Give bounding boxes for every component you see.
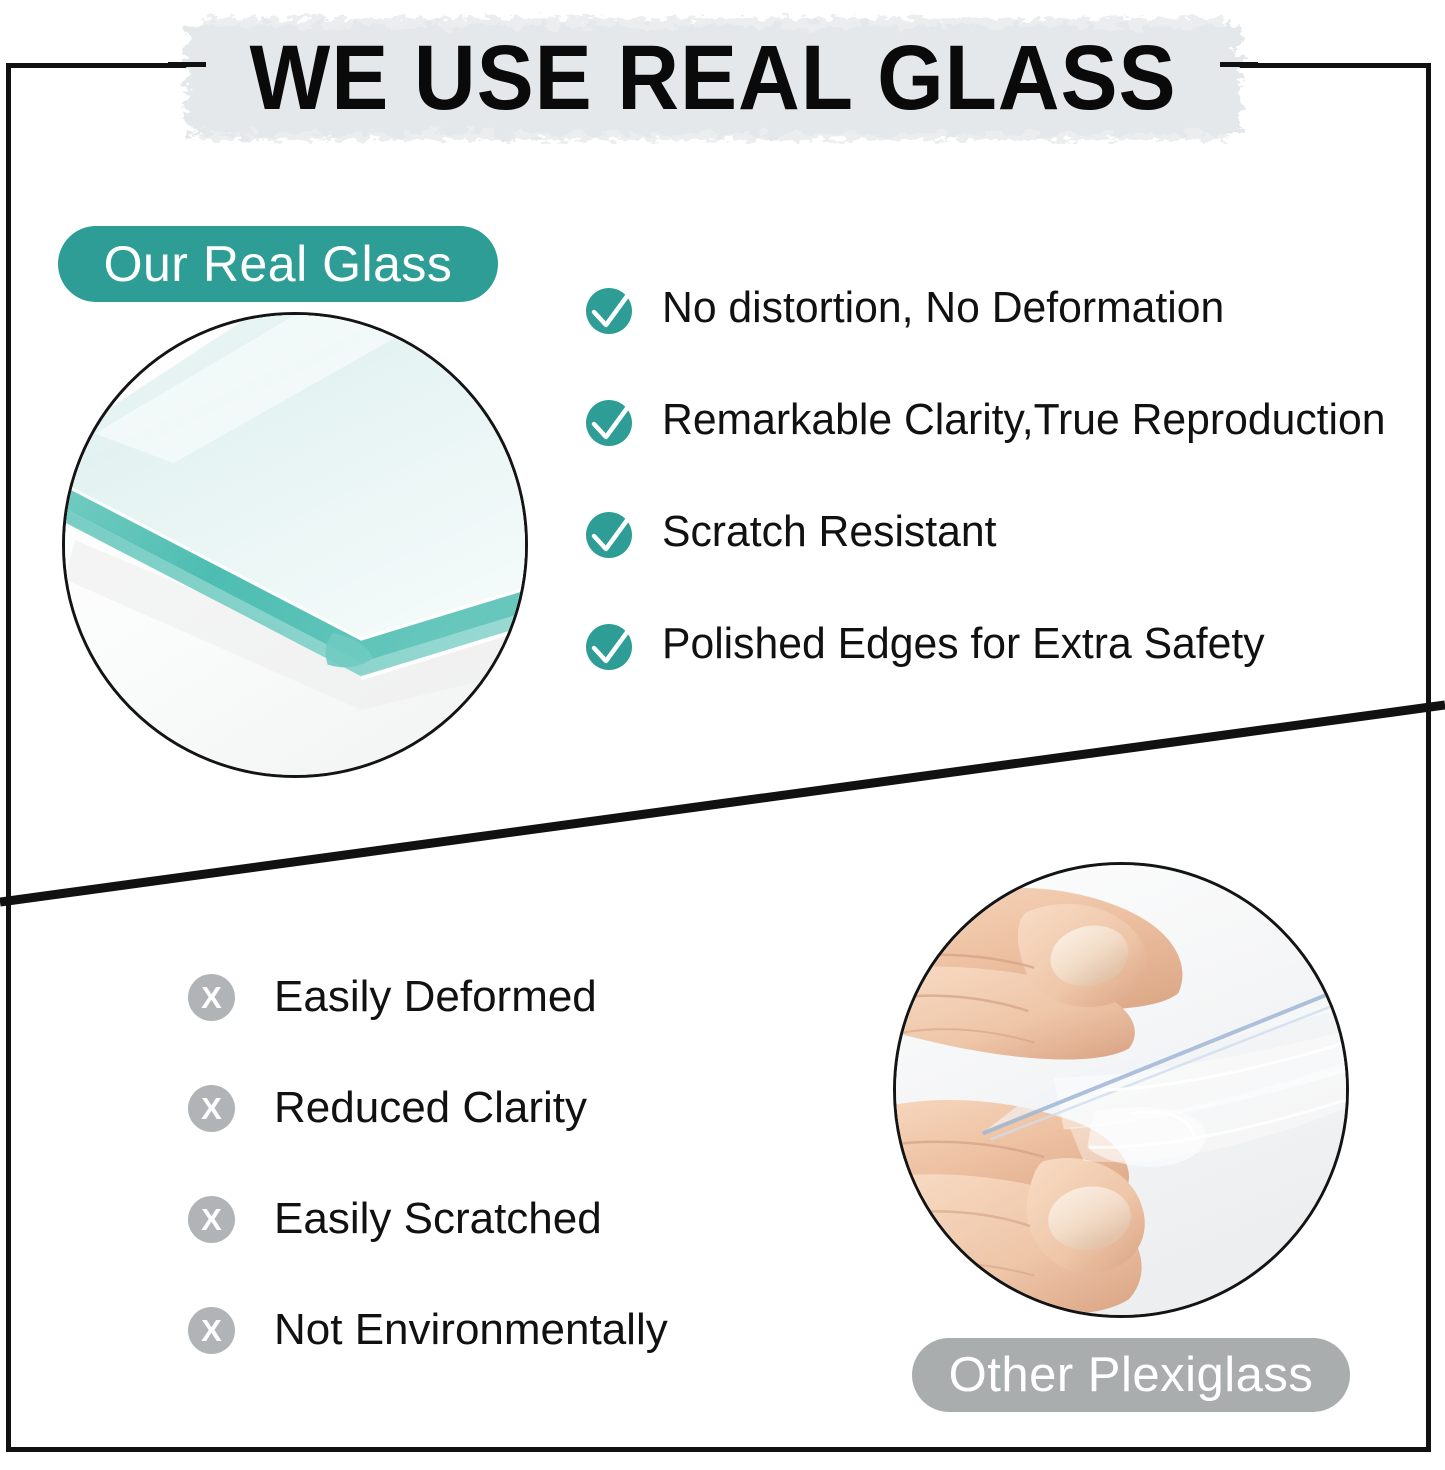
feature-row: Remarkable Clarity,True Reproduction (584, 394, 1434, 506)
check-circle-icon (584, 284, 636, 336)
x-circle-icon: X (188, 1085, 235, 1132)
x-circle-icon: X (188, 1196, 235, 1243)
drawback-row: X Reduced Clarity (188, 1083, 808, 1194)
feature-row: Polished Edges for Extra Safety (584, 618, 1434, 730)
badge-our-real-glass: Our Real Glass (58, 226, 498, 302)
feature-label: Scratch Resistant (662, 498, 996, 566)
page-title: WE USE REAL GLASS (206, 26, 1220, 130)
feature-label: Remarkable Clarity,True Reproduction (662, 386, 1385, 454)
x-circle-icon: X (188, 974, 235, 1021)
feature-row: Scratch Resistant (584, 506, 1434, 618)
check-circle-icon (584, 396, 636, 448)
drawback-row: X Easily Scratched (188, 1194, 808, 1305)
real-glass-photo (62, 312, 528, 778)
drawback-row: X Not Environmentally (188, 1305, 808, 1416)
plexiglass-photo (893, 862, 1349, 1318)
check-circle-icon (584, 508, 636, 560)
infographic-root: WE USE REAL GLASS Our Real Glass (0, 0, 1445, 1470)
real-glass-feature-list: No distortion, No Deformation Remarkable… (584, 282, 1434, 730)
x-circle-icon: X (188, 1307, 235, 1354)
drawback-label: Reduced Clarity (274, 1074, 587, 1142)
feature-label: Polished Edges for Extra Safety (662, 610, 1265, 678)
title-banner: WE USE REAL GLASS (168, 12, 1258, 144)
drawback-row: X Easily Deformed (188, 972, 808, 1083)
check-circle-icon (584, 620, 636, 672)
plexiglass-drawback-list: X Easily Deformed X Reduced Clarity X Ea… (188, 972, 808, 1416)
real-glass-photo-illustration (65, 315, 525, 775)
feature-row: No distortion, No Deformation (584, 282, 1434, 394)
drawback-label: Easily Deformed (274, 963, 597, 1031)
drawback-label: Easily Scratched (274, 1185, 602, 1253)
badge-other-plexiglass: Other Plexiglass (912, 1338, 1350, 1412)
drawback-label: Not Environmentally (274, 1296, 668, 1364)
plexiglass-photo-illustration (896, 865, 1346, 1315)
feature-label: No distortion, No Deformation (662, 274, 1224, 342)
